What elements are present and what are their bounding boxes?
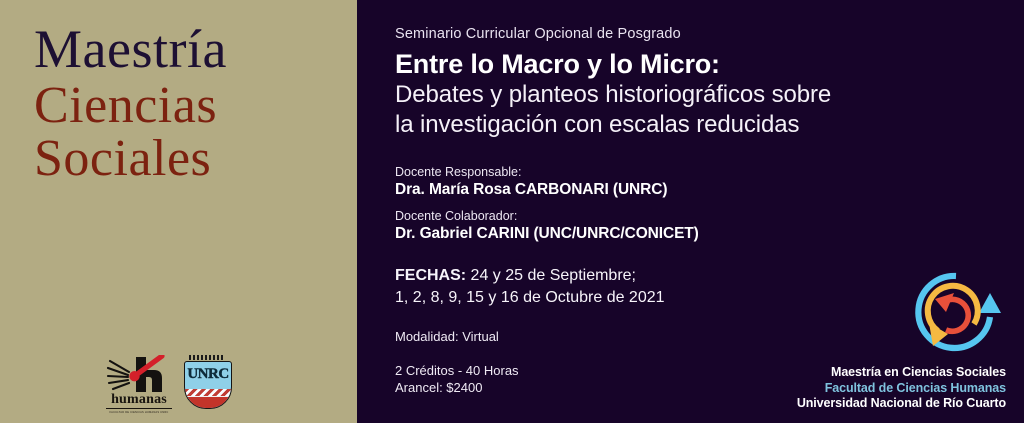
staff-block: Docente Responsable: Dra. María Rosa CAR… [395,165,1008,243]
institution-line-universidad: Universidad Nacional de Río Cuarto [797,396,1006,411]
left-panel: Maestría Ciencias Sociales [0,0,357,423]
humanas-mark-icon [106,355,172,393]
docente-colaborador-label: Docente Colaborador: [395,209,1008,223]
institution-line-facultad: Facultad de Ciencias Humanas [797,381,1006,396]
institution-lines: Maestría en Ciencias Sociales Facultad d… [797,365,1006,411]
brand-line-maestria: Maestría [34,22,334,77]
humanas-logo: humanas FACULTAD DE CIENCIAS HUMANAS UNR… [106,355,172,411]
unrc-red-base [185,397,231,408]
institution-line-maestria: Maestría en Ciencias Sociales [797,365,1006,380]
brand-block: Maestría Ciencias Sociales [34,22,334,185]
unrc-logo: UNRC [182,355,232,411]
humanas-wordmark: humanas [106,393,172,409]
seminar-title-sub-line2: la investigación con escalas reducidas [395,111,1008,140]
docente-responsable-label: Docente Responsable: [395,165,1008,179]
seminar-title-main: Entre lo Macro y lo Micro: [395,49,1008,80]
right-panel: Seminario Curricular Opcional de Posgrad… [357,0,1024,423]
left-logo-group: humanas FACULTAD DE CIENCIAS HUMANAS UNR… [106,355,232,411]
humanas-subtitle: FACULTAD DE CIENCIAS HUMANAS UNRC [106,411,172,414]
brand-line-ciencias: Ciencias [34,79,334,132]
docente-colaborador-name: Dr. Gabriel CARINI (UNC/UNRC/CONICET) [395,225,1008,243]
poster-root: Maestría Ciencias Sociales [0,0,1024,423]
brand-line-sociales: Sociales [34,132,334,185]
institution-block: Maestría en Ciencias Sociales Facultad d… [797,267,1006,411]
unrc-shield-icon: UNRC [184,361,232,409]
unrc-crest-topbar-icon [189,355,225,360]
unrc-shield-label: UNRC [185,366,231,383]
dates-line-1-rest: 24 y 25 de Septiembre; [466,267,636,284]
seminar-title-sub-line1: Debates y planteos historiográficos sobr… [395,81,1008,110]
seminar-kicker: Seminario Curricular Opcional de Posgrad… [395,26,1008,42]
docente-responsable-name: Dra. María Rosa CARBONARI (UNRC) [395,181,1008,199]
circular-arrows-icon [902,267,1006,359]
dates-label: FECHAS: [395,267,466,284]
